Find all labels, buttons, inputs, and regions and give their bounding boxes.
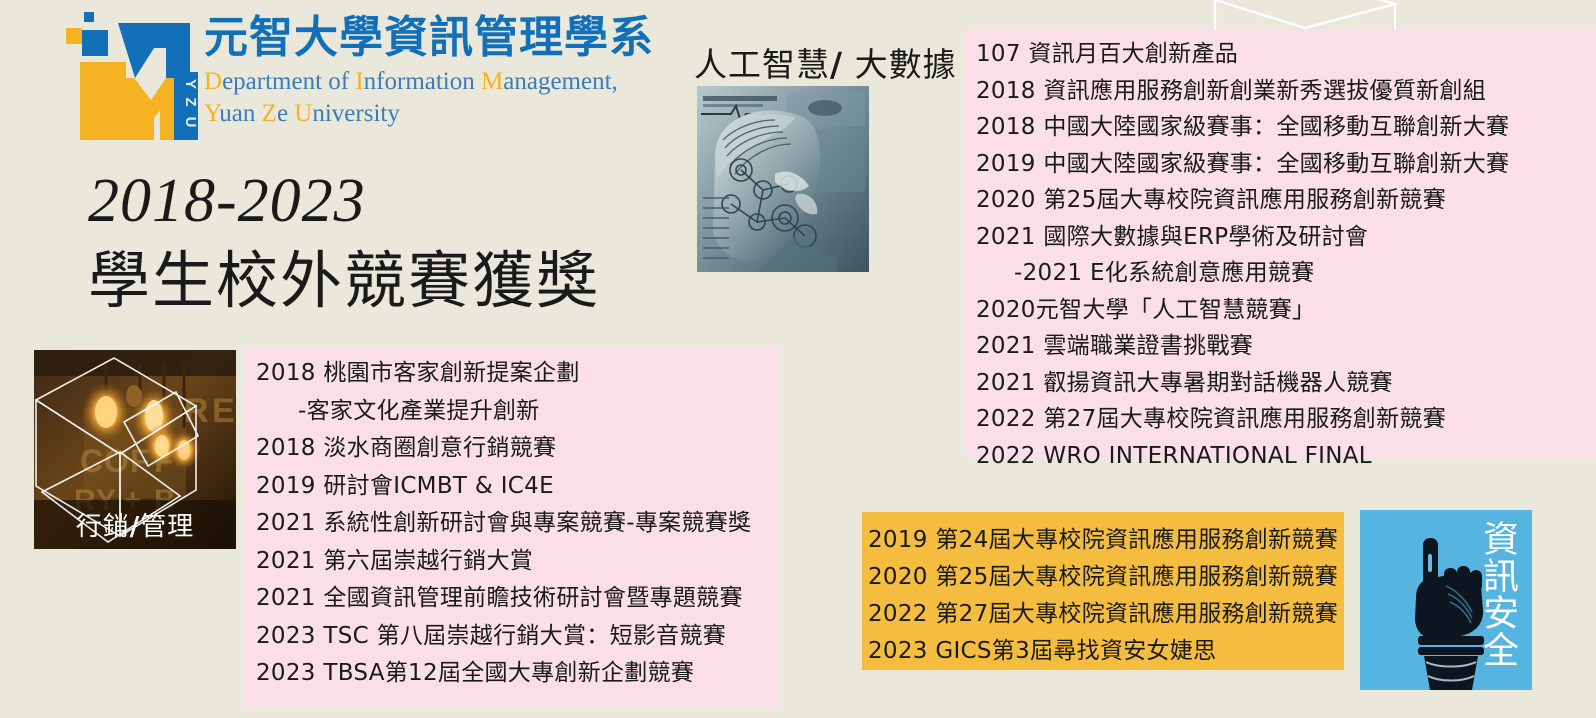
svg-text:Y: Y	[182, 79, 199, 89]
svg-text:O: O	[104, 443, 129, 479]
coffee-shop-lightbulbs-photo: R E C O F F R Y + B	[34, 350, 236, 549]
list-item: 2019 中國大陸國家級賽事：全國移動互聯創新大賽	[976, 146, 1596, 183]
list-item: 2021 叡揚資訊大專暑期對話機器人競賽	[976, 365, 1596, 402]
svg-text:E: E	[212, 392, 235, 430]
list-item: 2021 第六屆崇越行銷大賞	[256, 543, 786, 581]
svg-text:Z: Z	[182, 97, 199, 106]
section-label-information-security: 資訊安全	[1475, 520, 1521, 718]
section-label-ai-bigdata: 人工智慧/ 大數據	[694, 38, 957, 86]
section-label-marketing-management: 行銷/管理	[34, 506, 236, 543]
list-item: 2023 TBSA第12屆全國大專創新企劃競賽	[256, 655, 786, 693]
list-item: 2018 淡水商圈創意行銷競賽	[256, 430, 786, 468]
logo-english-line-2: Yuan Ze University	[204, 98, 654, 130]
list-item: 2022 第27屆大專校院資訊應用服務創新競賽	[868, 596, 1348, 633]
list-item: -客家文化產業提升創新	[256, 393, 786, 431]
list-item: 2021 雲端職業證書挑戰賽	[976, 328, 1596, 365]
information-security-award-list: 2019 第24屆大專校院資訊應用服務創新競賽 2020 第25屆大專校院資訊應…	[868, 522, 1348, 670]
ai-brain-circuit-photo	[697, 86, 869, 272]
list-item: 2022 WRO INTERNATIONAL FINAL	[976, 438, 1596, 475]
svg-text:U: U	[182, 117, 199, 128]
list-item: 2018 資訊應用服務創新創業新秀選拔優質新創組	[976, 73, 1596, 110]
list-item: 2021 國際大數據與ERP學術及研討會	[976, 219, 1596, 256]
page-title: 學生校外競賽獲獎	[88, 248, 600, 314]
svg-text:C: C	[80, 443, 103, 479]
list-item: 2021 全國資訊管理前瞻技術研討會暨專題競賽	[256, 580, 786, 618]
logo-english-line-1: Department of Information Management,	[204, 66, 654, 98]
department-logo: Y Z U 元智大學資訊管理學系 Department of Informati…	[62, 10, 662, 150]
list-item: 2022 第27屆大專校院資訊應用服務創新競賽	[976, 401, 1596, 438]
list-item: 2021 系統性創新研討會與專案競賽-專案競賽獎	[256, 505, 786, 543]
list-item: 2023 TSC 第八屆崇越行銷大賞：短影音競賽	[256, 618, 786, 656]
list-item: 2020元智大學「人工智慧競賽」	[976, 292, 1596, 329]
list-item: 2020 第25屆大專校院資訊應用服務創新競賽	[868, 559, 1348, 596]
list-item: 107 資訊月百大創新產品	[976, 36, 1596, 73]
list-item: 2019 研討會ICMBT & IC4E	[256, 468, 786, 506]
poster-canvas: Y Z U 元智大學資訊管理學系 Department of Informati…	[0, 0, 1596, 718]
marketing-management-award-list: 2018 桃園市客家創新提案企劃 -客家文化產業提升創新 2018 淡水商圈創意…	[256, 355, 786, 693]
list-item: 2018 中國大陸國家級賽事：全國移動互聯創新大賽	[976, 109, 1596, 146]
list-item: 2020 第25屆大專校院資訊應用服務創新競賽	[976, 182, 1596, 219]
list-item: -2021 E化系統創意應用競賽	[976, 255, 1596, 292]
yzu-im-monogram-icon: Y Z U	[62, 10, 212, 145]
list-item: 2019 第24屆大專校院資訊應用服務創新競賽	[868, 522, 1348, 559]
year-range-title: 2018-2023	[88, 166, 366, 237]
logo-chinese-name: 元智大學資訊管理學系	[204, 12, 654, 64]
ai-bigdata-award-list: 107 資訊月百大創新產品 2018 資訊應用服務創新創業新秀選拔優質新創組 2…	[976, 36, 1596, 474]
list-item: 2023 GICS第3屆尋找資安女婕思	[868, 633, 1348, 670]
list-item: 2018 桃園市客家創新提案企劃	[256, 355, 786, 393]
